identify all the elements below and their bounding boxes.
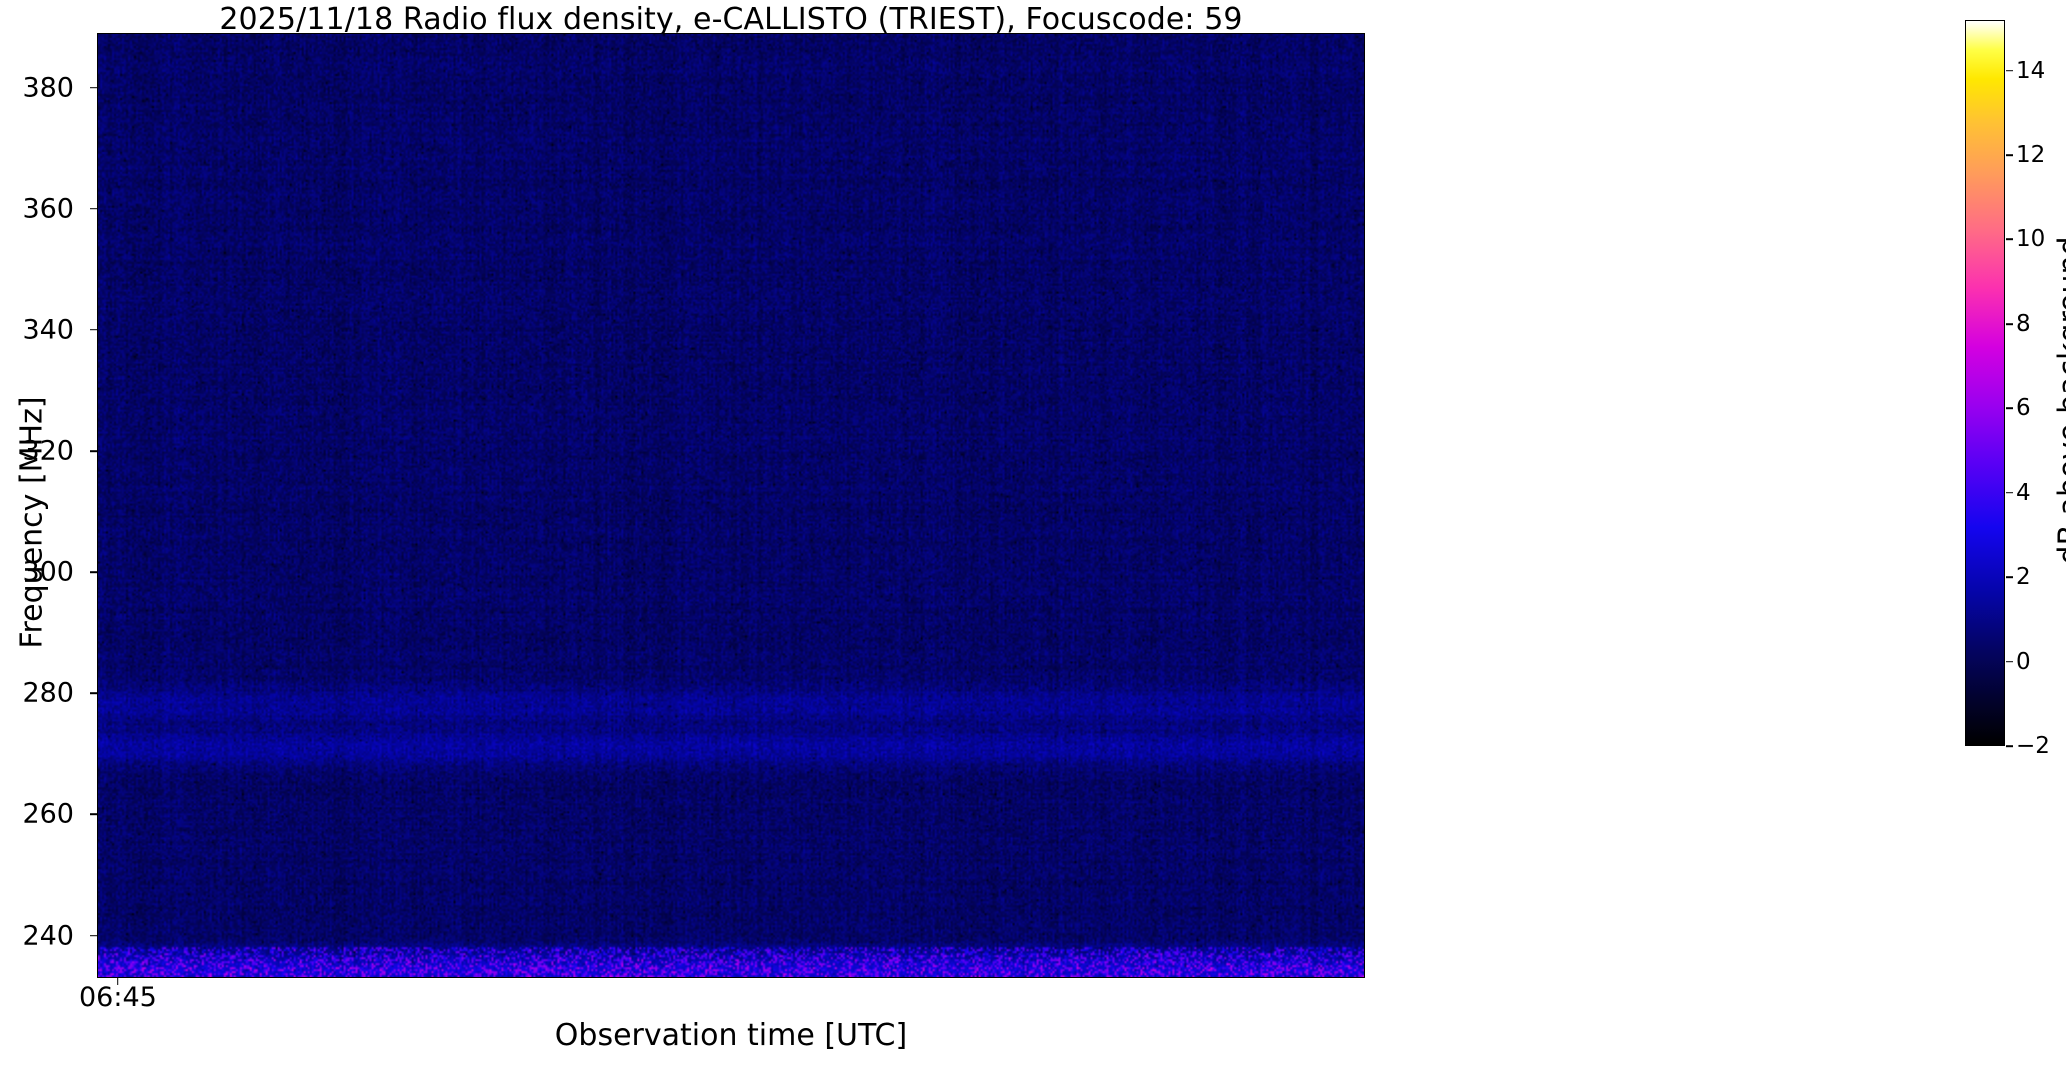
colorbar-tick-label: 14 (2016, 58, 2045, 84)
colorbar-label: dB above background (2053, 31, 2066, 771)
colorbar-gradient (1966, 21, 2004, 745)
colorbar-tick-label: 2 (2016, 564, 2031, 590)
colorbar-tick-mark (2006, 661, 2013, 663)
colorbar-tick-mark (2006, 745, 2013, 747)
plot-title: 2025/11/18 Radio flux density, e-CALLIST… (97, 2, 1365, 37)
colorbar-tick-mark (2006, 576, 2013, 578)
colorbar-tick-label: 8 (2016, 311, 2031, 337)
figure-canvas: 2025/11/18 Radio flux density, e-CALLIST… (0, 0, 2066, 1067)
colorbar-tick-mark (2006, 239, 2013, 241)
colorbar-tick-mark (2006, 408, 2013, 410)
y-tick-mark (90, 329, 97, 331)
colorbar-tick-label: 10 (2016, 226, 2045, 252)
colorbar-tick-mark (2006, 492, 2013, 494)
y-tick-label: 380 (0, 72, 74, 103)
x-tick-label: 06:45 (43, 982, 193, 1013)
colorbar-tick-label: 6 (2016, 395, 2031, 421)
y-tick-mark (90, 814, 97, 816)
colorbar-tick-label: 0 (2016, 649, 2031, 675)
y-tick-mark (90, 692, 97, 694)
colorbar-tick-label: 12 (2016, 142, 2045, 168)
x-tick-mark (117, 978, 119, 985)
y-tick-mark (90, 450, 97, 452)
x-axis-label: Observation time [UTC] (97, 1018, 1365, 1053)
y-tick-mark (90, 208, 97, 210)
spectrogram-image (98, 34, 1364, 977)
colorbar-tick-mark (2006, 154, 2013, 156)
colorbar-tick-label: −2 (2016, 733, 2050, 759)
spectrogram-axes[interactable] (97, 33, 1365, 978)
colorbar-tick-mark (2006, 323, 2013, 325)
colorbar-axes[interactable] (1965, 20, 2005, 746)
y-axis-label: Frequency [MHz] (15, 113, 50, 933)
y-tick-mark (90, 571, 97, 573)
y-tick-mark (90, 87, 97, 89)
y-tick-mark (90, 935, 97, 937)
colorbar-tick-label: 4 (2016, 480, 2031, 506)
colorbar-tick-mark (2006, 70, 2013, 72)
